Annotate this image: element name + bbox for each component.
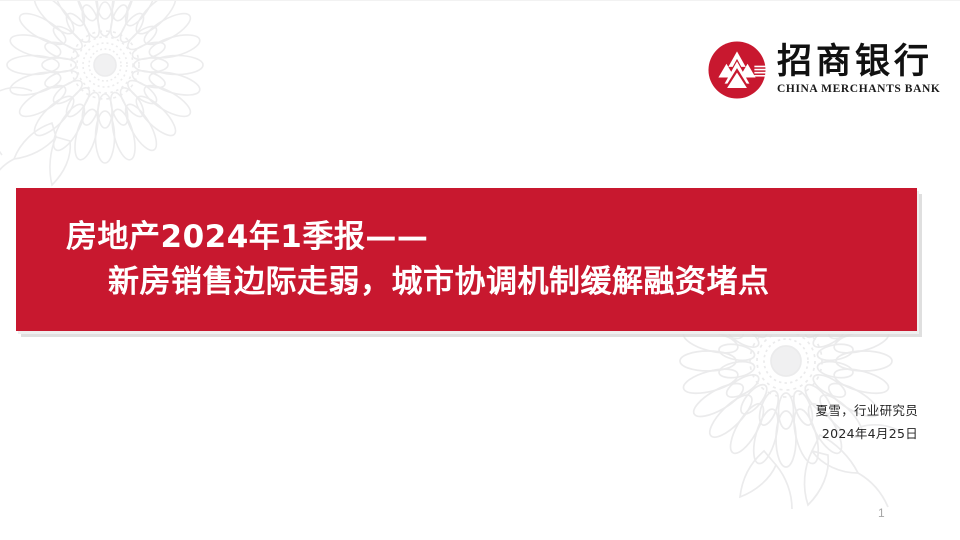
cmb-logo: 招商银行 CHINA MERCHANTS BANK	[706, 37, 940, 103]
page-title-line-1: 房地产2024年1季报——	[16, 215, 917, 259]
byline-date: 2024年4月25日	[816, 422, 918, 445]
cmb-logo-mark	[706, 39, 768, 101]
logo-chinese-name: 招商银行	[777, 45, 940, 81]
sunflower-mandala-icon	[0, 0, 220, 203]
byline-author: 夏雪，行业研究员	[816, 399, 918, 422]
page-number: 1	[878, 506, 885, 520]
title-banner: 房地产2024年1季报—— 新房销售边际走弱，城市协调机制缓解融资堵点	[16, 188, 917, 331]
title-slide: 招商银行 CHINA MERCHANTS BANK 房地产2024年1季报—— …	[0, 0, 960, 540]
page-title-line-2: 新房销售边际走弱，城市协调机制缓解融资堵点	[16, 260, 917, 304]
cmb-wordmark: 招商银行 CHINA MERCHANTS BANK	[777, 45, 940, 96]
logo-english-name: CHINA MERCHANTS BANK	[777, 83, 940, 95]
byline: 夏雪，行业研究员 2024年4月25日	[816, 399, 918, 445]
